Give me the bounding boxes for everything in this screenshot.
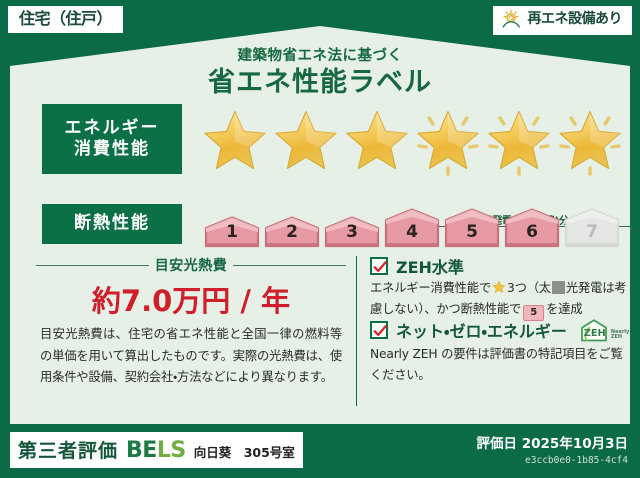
insulation-house-empty: 7	[564, 208, 620, 248]
zeh-standard-row: ZEH水準	[370, 254, 464, 278]
check-icon	[370, 321, 388, 339]
net-zero-energy-title: ネット・ゼロ・エネルギー	[396, 318, 567, 342]
third-party-evaluation-label: 第三者評価	[18, 436, 118, 463]
sun-icon	[501, 9, 523, 31]
heading-rule-left	[36, 265, 149, 266]
evaluation-id: e3ccb0e0-1b85-4cf4	[477, 455, 628, 466]
property-name: 向日葵 305号室	[194, 442, 295, 461]
insulation-house-filled: 6	[504, 208, 560, 248]
building-type-tag: 住宅（住戸）	[8, 6, 123, 33]
net-zero-energy-row: ネット・ゼロ・エネルギー ZEH Nearly ZEH	[370, 318, 629, 342]
insulation-house-filled: 4	[384, 208, 440, 248]
estimated-utility-cost-title: 目安光熱費	[155, 255, 228, 275]
zeh-desc-part4: を達成	[546, 302, 582, 316]
star-icon	[557, 108, 623, 172]
label-body-card: エネルギー 消費性能 太陽光発電(自家消費)分 断熱性能 1234567 目安光…	[10, 96, 630, 424]
renewable-equipment-tag: 再エネ設備あり	[493, 6, 633, 35]
insulation-level-number: 7	[586, 222, 598, 248]
bels-logo: BELS	[126, 438, 186, 463]
zeh-house-icon: ZEH	[579, 318, 609, 342]
star-icon	[415, 108, 481, 172]
insulation-level-number: 3	[346, 222, 358, 248]
renewable-equipment-label: 再エネ設備あり	[528, 12, 623, 27]
energy-label-line2: 消費性能	[74, 139, 150, 160]
svg-text:ZEH: ZEH	[584, 328, 606, 339]
energy-star-rating	[200, 104, 630, 178]
estimated-utility-cost-note: 目安光熱費は、住宅の省エネ性能と全国一律の燃料等の単価を用いて算出したものです。…	[40, 324, 342, 389]
zeh-desc-part1: エネルギー消費性能で	[370, 281, 491, 295]
estimated-utility-cost-value: 約7.0万円 / 年	[36, 278, 346, 320]
energy-label-line1: エネルギー	[65, 118, 160, 139]
star-icon	[492, 280, 506, 294]
insulation-level-number: 5	[466, 222, 478, 248]
label-title: 省エネ性能ラベル	[0, 60, 640, 99]
insulation-house-filled: 5	[444, 208, 500, 248]
redacted-character-icon	[552, 281, 565, 294]
insulation-level-number: 2	[286, 222, 298, 248]
zeh-badge-sub2: ZEH	[611, 334, 622, 340]
insulation-house-filled: 1	[204, 216, 260, 248]
bels-logo-part1: BE	[126, 438, 157, 463]
star-icon	[486, 108, 552, 172]
bels-logo-part2: LS	[157, 438, 186, 463]
evaluation-meta: 評価日 2025年10月3日 e3ccb0e0-1b85-4cf4	[477, 432, 628, 466]
zeh-standard-description: エネルギー消費性能で3つ（太光発電は考慮しない）、かつ断熱性能で5を達成	[370, 278, 632, 321]
insulation-level-scale: 1234567	[204, 200, 624, 248]
star-icon	[202, 108, 268, 172]
zeh-desc-part2: 3つ（太	[507, 281, 551, 295]
insulation-label-text: 断熱性能	[74, 213, 150, 234]
insulation-level-number: 6	[526, 222, 538, 248]
insulation-level-number: 4	[406, 222, 418, 248]
insulation-performance-row-label: 断熱性能	[42, 204, 182, 244]
insulation-level-number: 1	[226, 222, 238, 248]
zeh-badge-subtext: Nearly ZEH	[611, 330, 629, 343]
insulation-house-filled: 3	[324, 216, 380, 248]
column-divider	[356, 256, 357, 406]
zeh-standard-title: ZEH水準	[396, 254, 464, 278]
third-party-evaluation-footer: 第三者評価 BELS 向日葵 305号室	[10, 432, 303, 468]
net-zero-energy-description: Nearly ZEH の要件は評価書の特記項目をご覧ください。	[370, 344, 632, 386]
star-icon	[273, 108, 339, 172]
heading-rule-right	[233, 265, 346, 266]
energy-performance-row-label: エネルギー 消費性能	[42, 104, 182, 174]
evaluation-date: 評価日 2025年10月3日	[477, 432, 628, 452]
star-icon	[344, 108, 410, 172]
zeh-logo-badge: ZEH Nearly ZEH	[579, 318, 629, 342]
energy-performance-label: 住宅（住戸） 再エネ設備あり 建築物省エネ法に基づく 省エネ性能ラベル	[0, 0, 640, 478]
insulation-house-filled: 2	[264, 216, 320, 248]
check-icon	[370, 257, 388, 275]
estimated-utility-cost-heading: 目安光熱費	[36, 256, 346, 274]
